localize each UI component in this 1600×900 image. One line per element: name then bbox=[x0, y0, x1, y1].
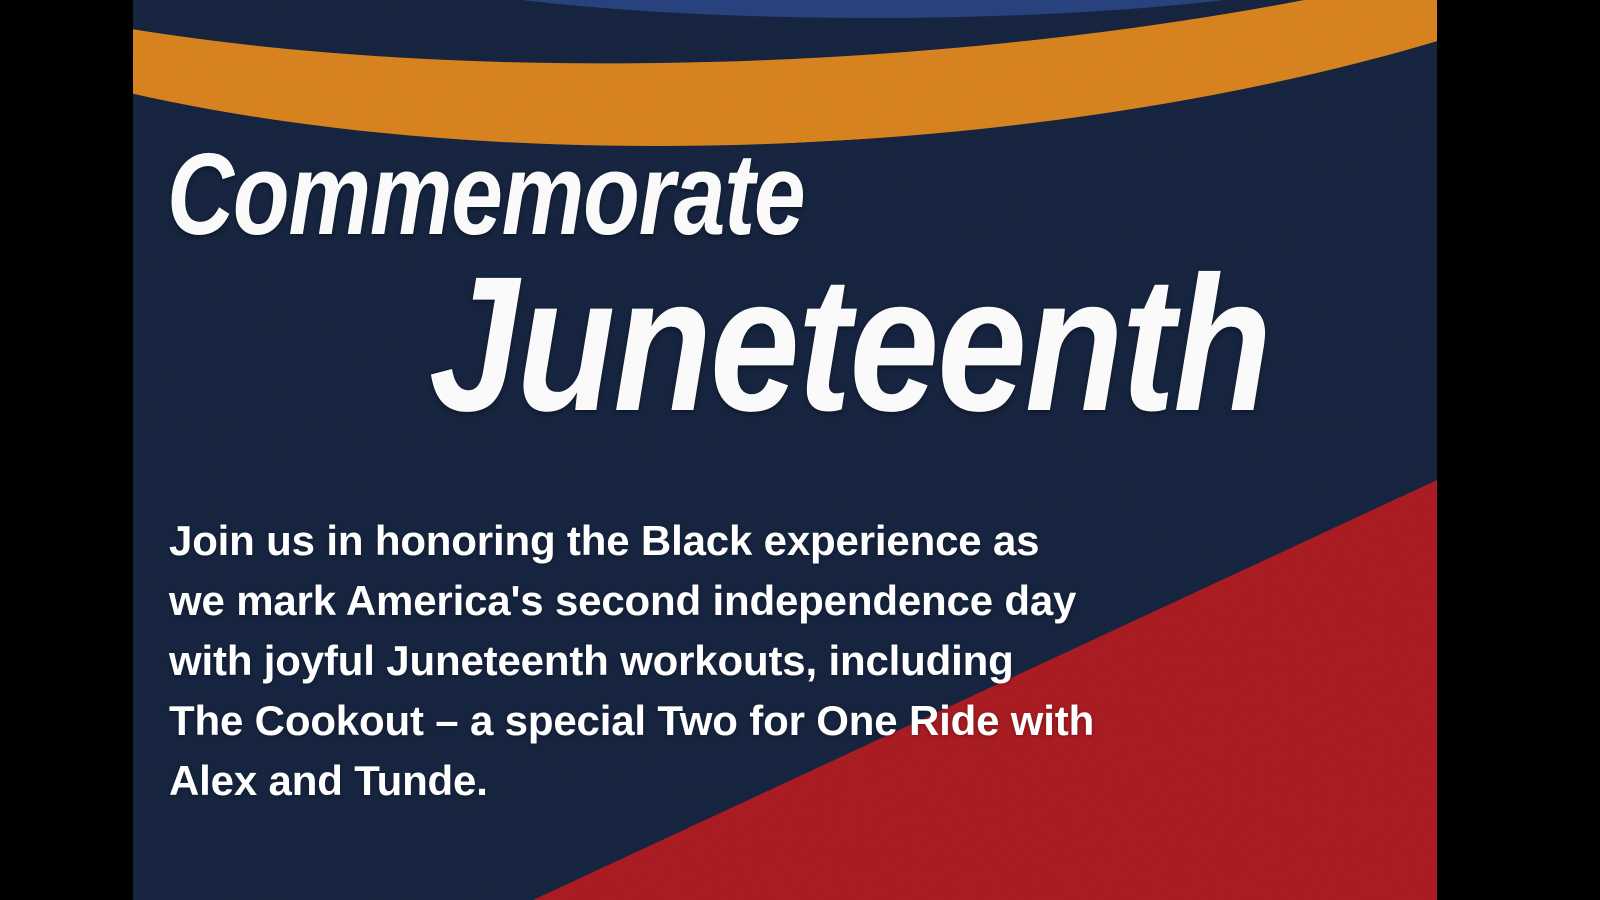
poster-content: Commemorate Juneteenth Join us in honori… bbox=[133, 0, 1437, 900]
headline-juneteenth: Juneteenth bbox=[429, 248, 1270, 440]
body-copy-line: with joyful Juneteenth workouts, includi… bbox=[169, 631, 1289, 691]
screenshot-stage: Commemorate Juneteenth Join us in honori… bbox=[0, 0, 1600, 900]
letterbox-bar-left bbox=[0, 0, 133, 900]
body-copy-line: Join us in honoring the Black experience… bbox=[169, 511, 1289, 571]
body-copy-line: Alex and Tunde. bbox=[169, 751, 1289, 811]
body-copy-paragraph: Join us in honoring the Black experience… bbox=[169, 511, 1289, 811]
headline-commemorate: Commemorate bbox=[167, 136, 805, 252]
letterbox-bar-right bbox=[1437, 0, 1600, 900]
body-copy-line: The Cookout – a special Two for One Ride… bbox=[169, 691, 1289, 751]
body-copy-line: we mark America's second independence da… bbox=[169, 571, 1289, 631]
juneteenth-poster: Commemorate Juneteenth Join us in honori… bbox=[133, 0, 1437, 900]
